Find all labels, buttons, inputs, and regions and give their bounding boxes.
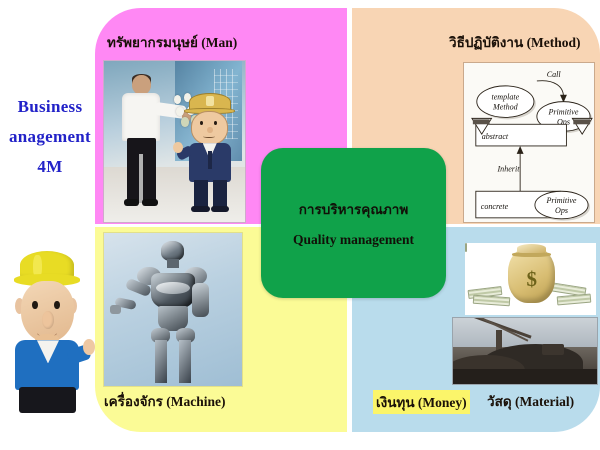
left-caption-business-management-4m: Business anagement 4M (0, 92, 106, 182)
man-head (132, 75, 150, 94)
center-thai-label: การบริหารคุณภาพ (299, 198, 409, 220)
node-label-primitive-bottom-1: Primitive (545, 196, 576, 205)
man-leg-gap (139, 154, 143, 202)
cutout-mascot-hat-badge (206, 96, 214, 106)
robot-leg-right (179, 340, 191, 383)
robot-arm-right (192, 283, 209, 317)
cutout-mascot-tie (208, 151, 212, 169)
photo-money-bag-and-cash: $ (465, 243, 596, 315)
node-label-template: template (491, 93, 519, 102)
cash-stack-2 (473, 295, 510, 307)
node-label-abstract: abstract (482, 132, 509, 141)
mascot-trousers (19, 387, 76, 413)
quadrant-label-method: วิธีปฏิบัติงาน (Method) (449, 31, 581, 53)
cash-stack-4 (556, 293, 591, 305)
cutout-mascot-nose (207, 127, 213, 133)
robot-hand-left (110, 305, 121, 314)
caption-line-3: 4M (0, 152, 106, 182)
money-bag-knot (517, 244, 546, 253)
mascot-nose (42, 311, 54, 329)
coal-hopper (542, 344, 564, 355)
engineer-mascot (2, 248, 94, 413)
caption-line-2: anagement (0, 122, 106, 152)
node-label-primitive-bottom-2: Ops (555, 206, 568, 215)
adornment-tag-right (573, 119, 590, 124)
caption-line-1: Business (0, 92, 106, 122)
node-label-method: Method (492, 103, 519, 112)
node-label-concrete: concrete (481, 202, 509, 211)
cutout-mascot-leg-left (194, 180, 208, 209)
cutout-mascot-leg-right (213, 180, 227, 209)
center-quality-management-box: การบริหารคุณภาพ Quality management (261, 148, 446, 298)
man-shoe-right (142, 199, 158, 205)
arrowhead-inherit (517, 146, 524, 154)
adornment-tag-left (473, 119, 490, 124)
man-shirt (122, 93, 160, 141)
robot-neck (167, 259, 178, 268)
node-label-primitive-top-1: Primitive (547, 107, 578, 116)
quadrant-label-material: วัสดุ (Material) (487, 390, 574, 412)
cutout-mascot-shoe-right (211, 206, 229, 212)
uml-svg: Call template Method Primitive Ops abstr… (464, 63, 594, 222)
edge-call (537, 81, 564, 97)
photo-humanoid-robot (103, 232, 243, 387)
slide-canvas: Business anagement 4M (0, 0, 600, 450)
quadrant-label-man: ทรัพยากรมนุษย์ (Man) (107, 31, 237, 53)
cash-stack-5 (465, 243, 467, 252)
robot-chest-plate (156, 282, 189, 294)
edge-label-inherit: Inherit (496, 165, 520, 174)
mascot-hand-right (83, 339, 95, 356)
center-english-label: Quality management (293, 232, 414, 248)
quadrant-label-machine: เครื่องจักร (Machine) (104, 390, 226, 412)
mascot-eye-right (54, 301, 60, 309)
cutout-mascot-shoe-left (191, 206, 209, 212)
edge-label-call: Call (547, 70, 562, 79)
robot-leg-left (155, 340, 167, 383)
robot-head (161, 241, 184, 261)
mascot-eye-left (32, 301, 38, 309)
photo-coal-stockpile (452, 317, 598, 385)
man-shoe-left (124, 199, 140, 205)
dollar-sign-icon: $ (523, 267, 541, 291)
coal-ground (453, 369, 597, 384)
quadrant-label-money: เงินทุน (Money) (373, 390, 470, 414)
template-method-uml-diagram: Call template Method Primitive Ops abstr… (463, 62, 595, 223)
cutout-mascot-hand (173, 142, 183, 153)
photo-man-with-mascot (103, 60, 246, 223)
